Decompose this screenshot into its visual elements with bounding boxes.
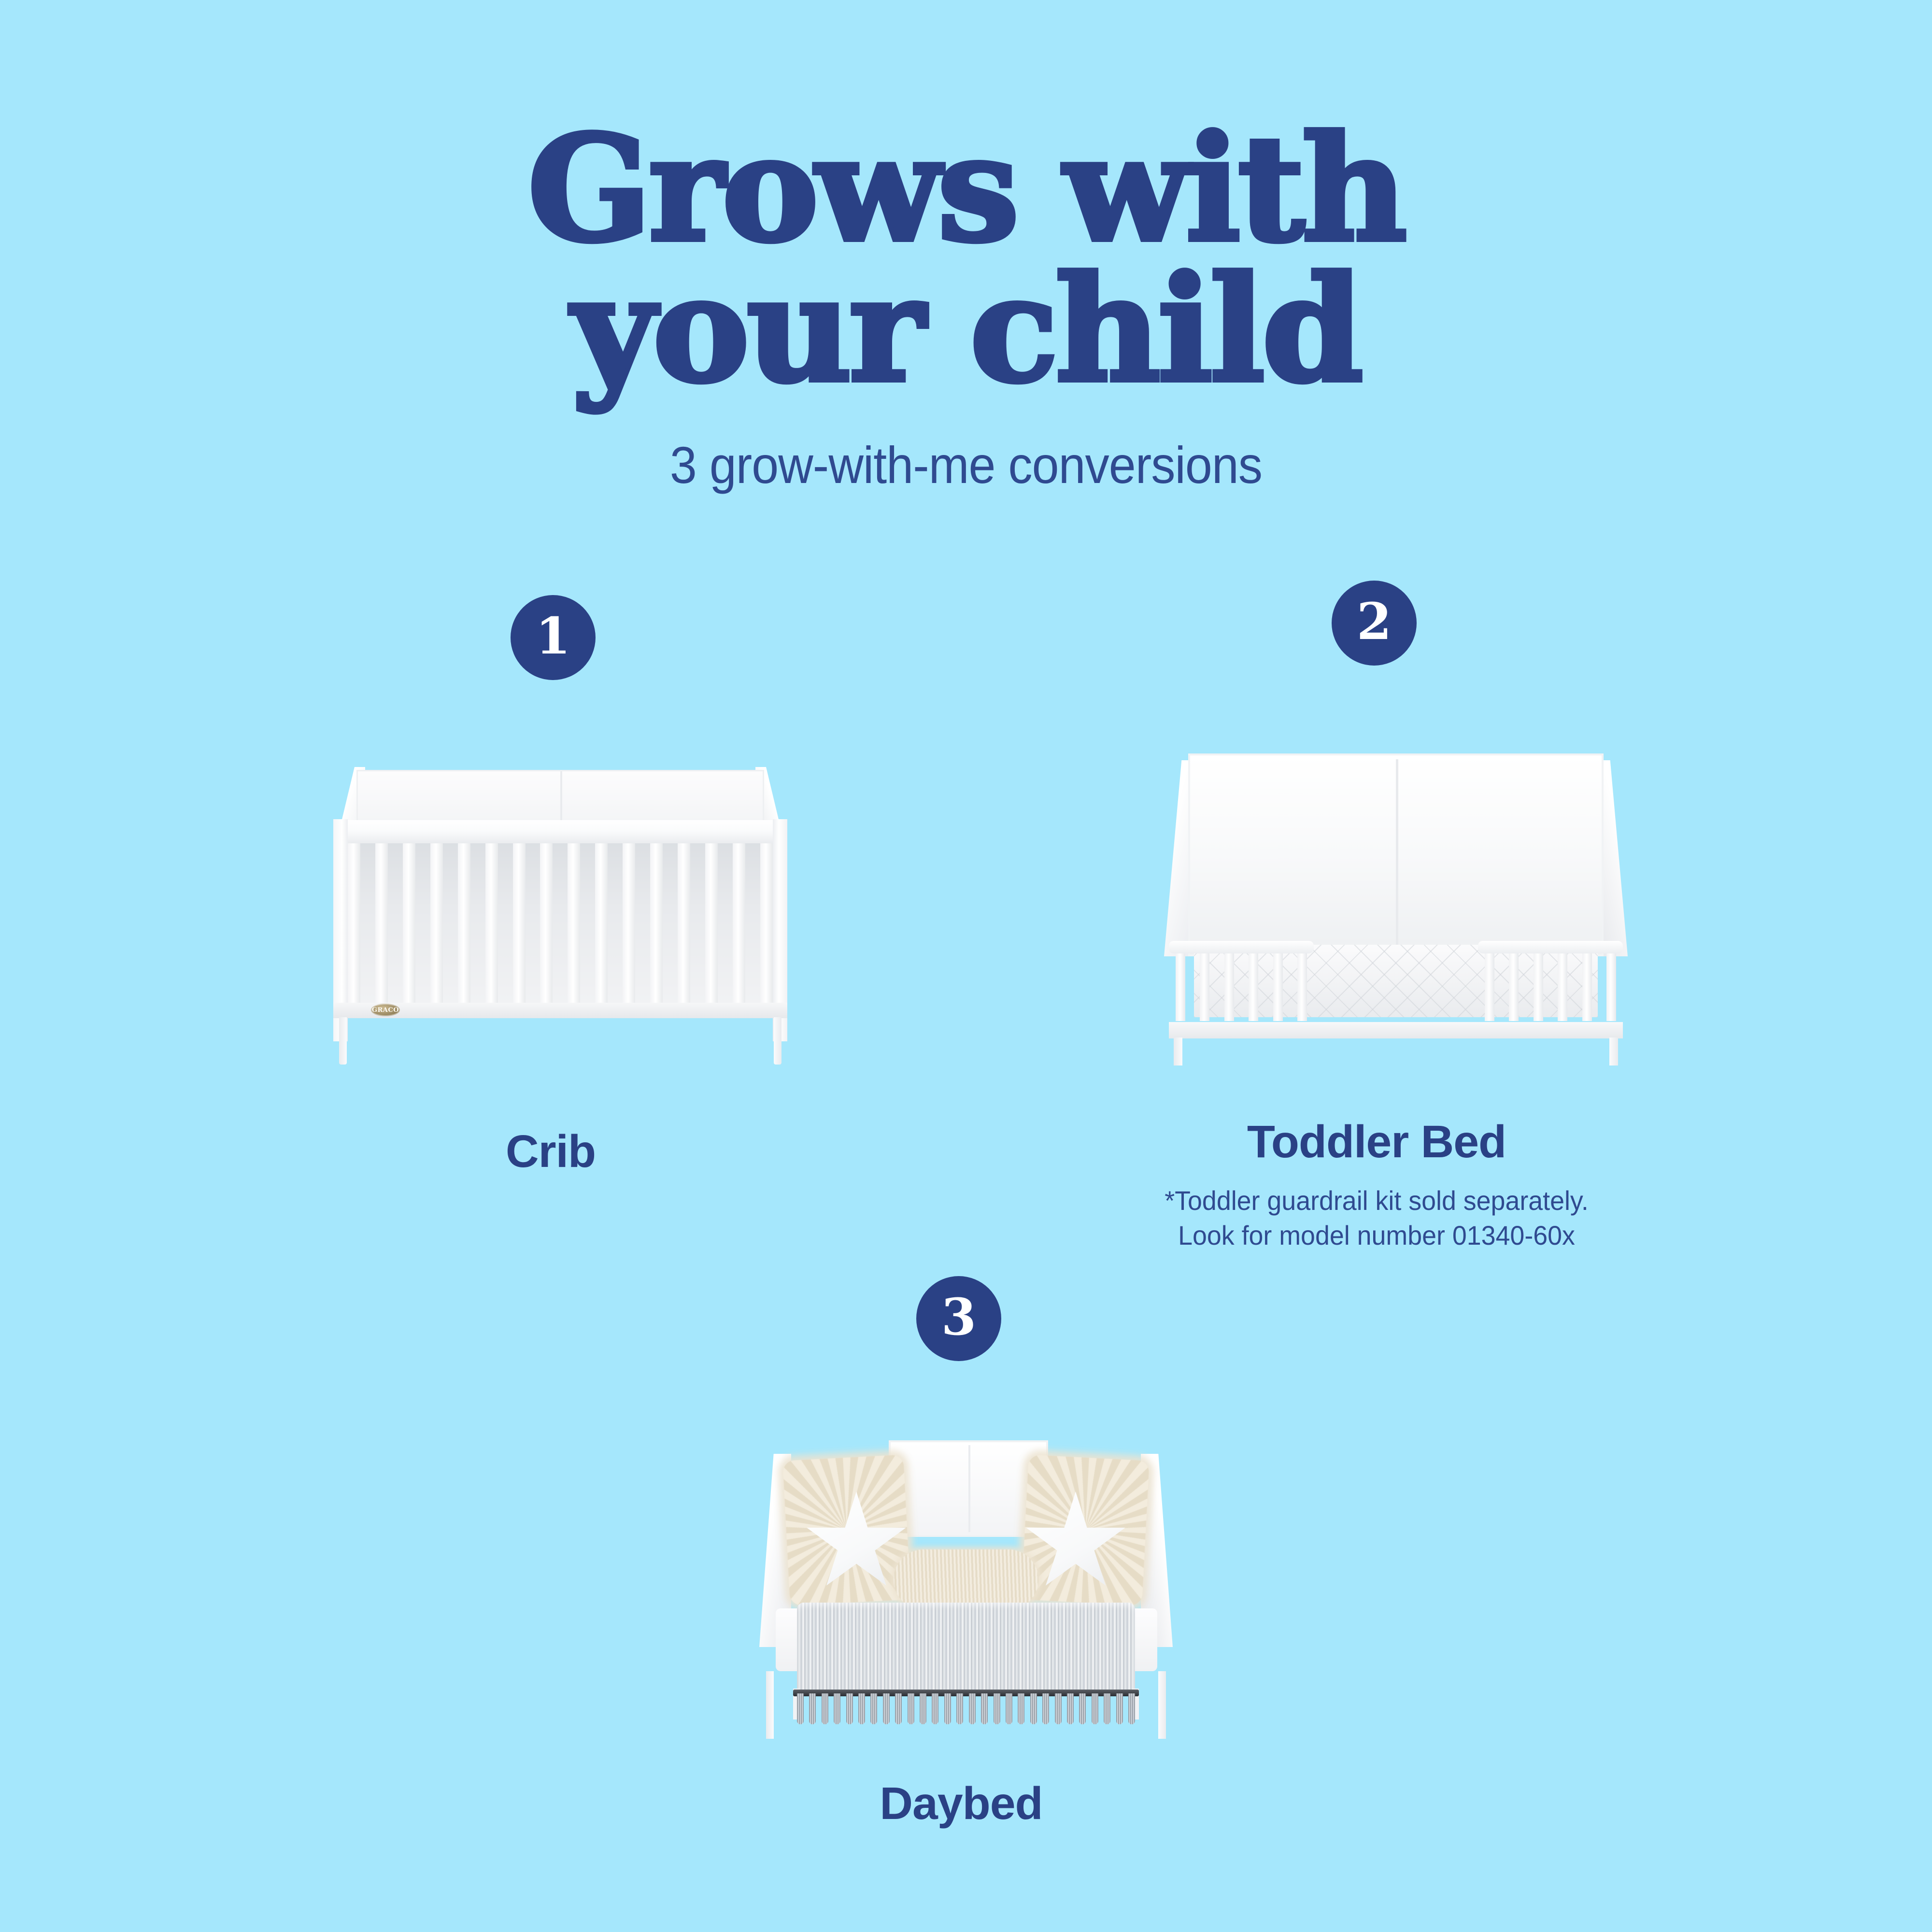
headline-line-2: your child — [0, 259, 1932, 399]
toddler-guardrail-right — [1478, 941, 1623, 1027]
daybed-tassel-fringe — [797, 1693, 1135, 1724]
page-title: Grows with your child — [0, 118, 1932, 399]
daybed-caption: Daybed — [753, 1777, 1169, 1830]
toddler-guardrail-left — [1169, 941, 1314, 1027]
guardrail-cap — [1478, 941, 1623, 953]
guardrail-bars — [1176, 953, 1307, 1021]
step-badge-3: 3 — [916, 1276, 1001, 1361]
crib-slats — [348, 843, 773, 1004]
fineprint-line-1: *Toddler guardrail kit sold separately. — [1103, 1183, 1650, 1218]
guardrail-cap — [1169, 941, 1314, 953]
daybed-illustration — [749, 1401, 1183, 1729]
page-subtitle: 3 grow-with-me conversions — [68, 435, 1864, 495]
toddler-bed-base-rail — [1169, 1022, 1623, 1038]
daybed-ribbed-throw — [797, 1603, 1135, 1692]
step-badge-1: 1 — [511, 595, 596, 680]
crib-leg-left — [339, 1017, 347, 1065]
guardrail-bars — [1485, 953, 1616, 1021]
step-badge-2: 2 — [1332, 581, 1417, 666]
toddler-bed-leg-left — [1174, 1037, 1182, 1065]
fur-bolster-pillow — [894, 1549, 1038, 1610]
daybed-leg-left — [766, 1671, 774, 1739]
toddler-bed-back-panel — [1188, 753, 1604, 956]
crib-top-rail — [333, 820, 787, 844]
crib-bottom-rail — [333, 1003, 787, 1018]
graco-logo: GRACO — [371, 1004, 400, 1016]
crib-leg-right — [774, 1017, 781, 1065]
fineprint-line-2: Look for model number 01340-60x — [1103, 1218, 1650, 1253]
crib-illustration: GRACO — [328, 767, 792, 1066]
crib-caption: Crib — [377, 1125, 724, 1178]
toddler-bed-illustration — [1159, 753, 1633, 1063]
daybed-back-panel — [889, 1440, 1048, 1537]
toddler-bed-fineprint: *Toddler guardrail kit sold separately. … — [1103, 1183, 1650, 1252]
daybed-leg-right — [1158, 1671, 1166, 1739]
toddler-bed-leg-right — [1609, 1037, 1618, 1065]
toddler-bed-caption: Toddler Bed — [1092, 1116, 1662, 1168]
